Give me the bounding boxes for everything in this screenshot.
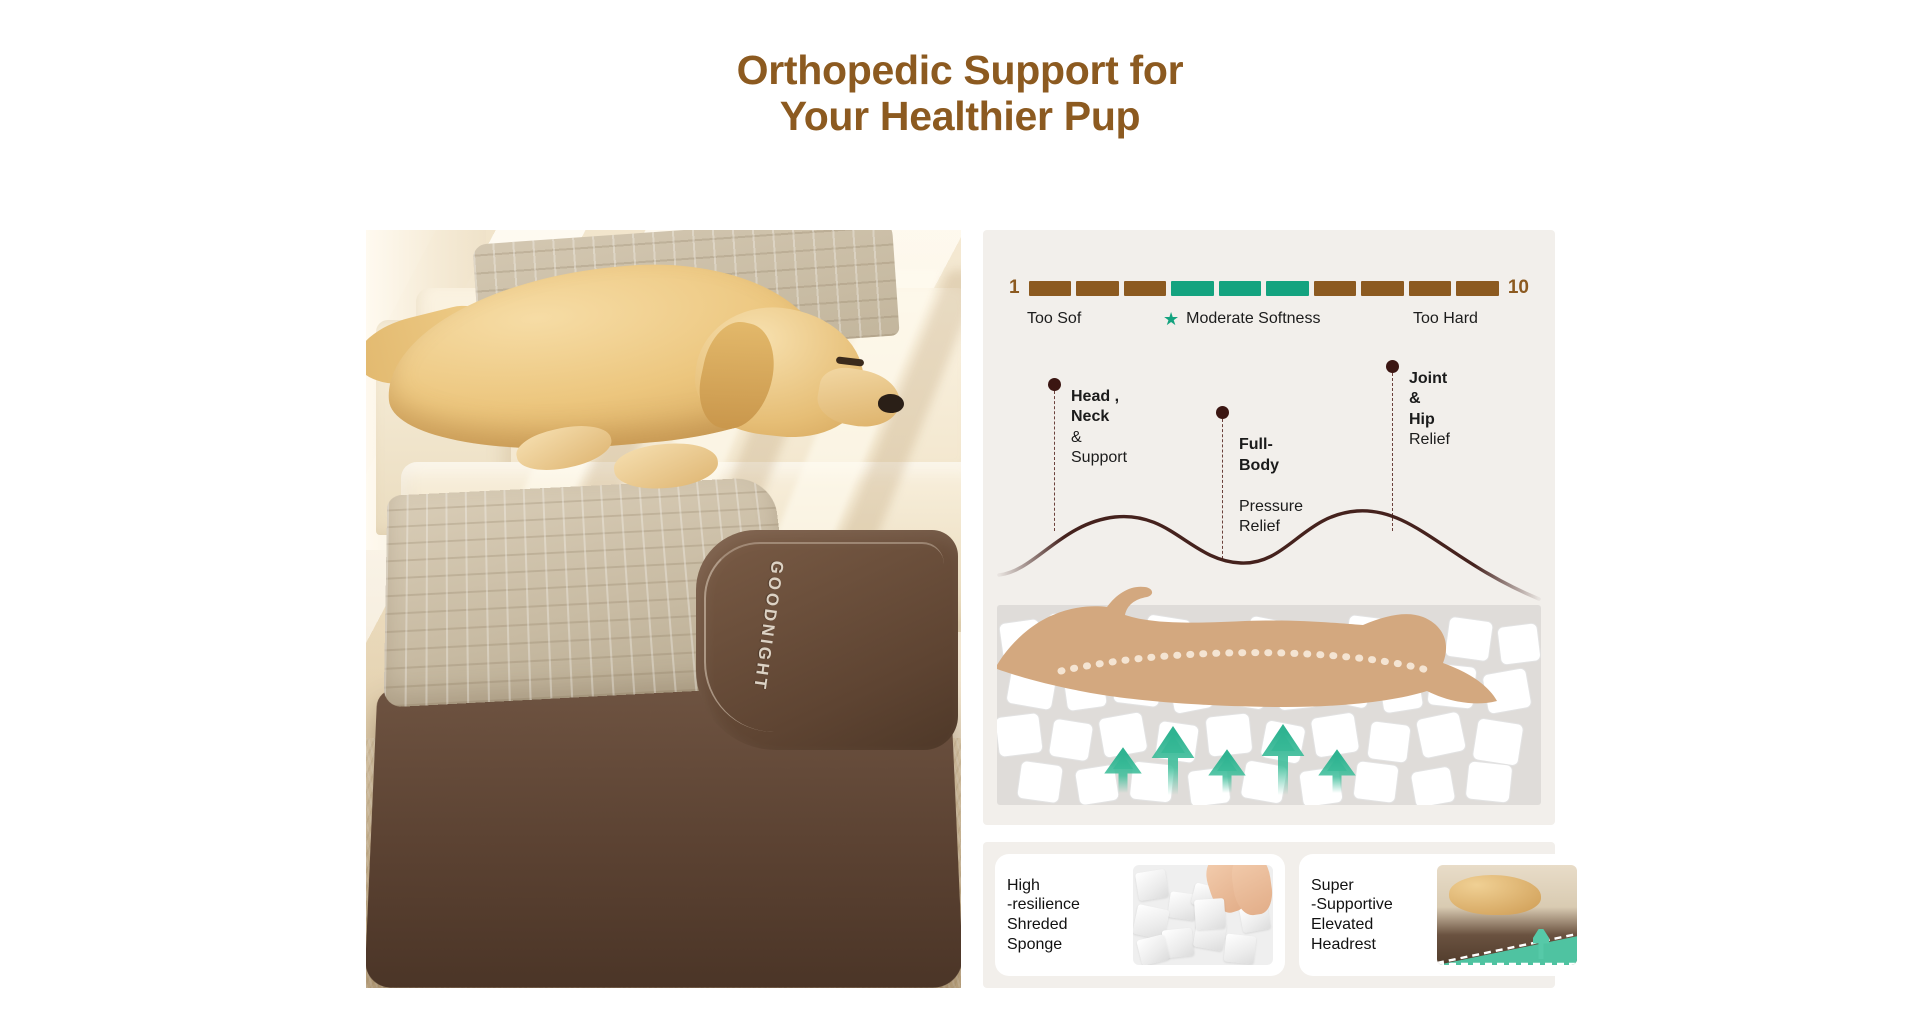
foam-photo xyxy=(1133,865,1273,965)
scale-max-label: 10 xyxy=(1508,277,1529,299)
scale-segment-5 xyxy=(1219,281,1262,296)
feature-line: Shreded xyxy=(1007,915,1125,935)
callout-title: Full-Body xyxy=(1239,435,1303,476)
feature-line: Super xyxy=(1311,876,1429,896)
infographic-page: Orthopedic Support for Your Healthier Pu… xyxy=(0,0,1920,1016)
feature-line: Sponge xyxy=(1007,935,1125,955)
callout-title: Head , Neck xyxy=(1071,387,1127,428)
scale-min-label: 1 xyxy=(1009,277,1020,299)
dashed-guide-lines xyxy=(1437,925,1577,965)
support-diagram-stage xyxy=(995,475,1543,813)
callout-dot xyxy=(1386,360,1399,373)
hero-product-photo: GOODNIGHT xyxy=(366,230,961,988)
feature-line: -resilience xyxy=(1007,895,1125,915)
scale-label-hard: Too Hard xyxy=(1413,310,1478,328)
support-diagram-svg xyxy=(995,475,1543,813)
scale-segment-1 xyxy=(1029,281,1072,296)
dog-photo-silhouette xyxy=(1449,875,1541,915)
scale-segment-6 xyxy=(1266,281,1309,296)
spine-curve xyxy=(999,511,1539,599)
page-title: Orthopedic Support for Your Healthier Pu… xyxy=(0,48,1920,140)
title-line-2: Your Healthier Pup xyxy=(0,94,1920,140)
callout-subtitle: Relief xyxy=(1409,430,1450,450)
scale-label-moderate: ★ Moderate Softness xyxy=(1163,310,1320,328)
scale-segment-7 xyxy=(1314,281,1357,296)
callout-subtitle: & Support xyxy=(1071,428,1127,469)
feature-cards-row: High -resilience Shreded Sponge xyxy=(983,842,1555,988)
scale-segment-9 xyxy=(1409,281,1452,296)
lift-arrow-icon xyxy=(1533,929,1549,959)
feature-card-text: High -resilience Shreded Sponge xyxy=(1007,876,1125,954)
scale-segments xyxy=(1029,281,1499,296)
dog-bed-bolster xyxy=(696,530,958,750)
bolster-piping xyxy=(704,542,944,732)
callout-title: Joint & Hip xyxy=(1409,369,1450,430)
feature-card-elevated-headrest[interactable]: Super -Supportive Elevated Headrest xyxy=(1299,854,1589,976)
callout-text: Head , Neck & Support xyxy=(1071,387,1127,469)
firmness-scale: 1 10 xyxy=(1009,275,1529,301)
dog-nose xyxy=(878,394,904,413)
scale-segment-10 xyxy=(1456,281,1499,296)
scale-segment-2 xyxy=(1076,281,1119,296)
feature-image-elevated-headrest xyxy=(1437,865,1577,965)
feature-line: -Supportive xyxy=(1311,895,1429,915)
star-icon: ★ xyxy=(1163,310,1179,328)
feature-line: Elevated xyxy=(1311,915,1429,935)
title-line-1: Orthopedic Support for xyxy=(0,48,1920,94)
scale-segment-8 xyxy=(1361,281,1404,296)
feature-line: High xyxy=(1007,876,1125,896)
callout-dot xyxy=(1048,378,1061,391)
feature-image-shredded-sponge xyxy=(1133,865,1273,965)
scale-segment-3 xyxy=(1124,281,1167,296)
dog-silhouette xyxy=(997,587,1497,707)
feature-card-text: Super -Supportive Elevated Headrest xyxy=(1311,876,1429,954)
scale-labels: Too Sof ★ Moderate Softness Too Hard xyxy=(1009,310,1529,334)
scale-segment-4 xyxy=(1171,281,1214,296)
scale-label-soft: Too Sof xyxy=(1027,310,1081,328)
orthopedic-diagram-panel: 1 10 Too Sof ★ Moderate Softness Too Har… xyxy=(983,230,1555,825)
callout-dot xyxy=(1216,406,1229,419)
feature-card-shredded-sponge[interactable]: High -resilience Shreded Sponge xyxy=(995,854,1285,976)
feature-line: Headrest xyxy=(1311,935,1429,955)
callout-text: Joint & Hip Relief xyxy=(1409,369,1450,451)
